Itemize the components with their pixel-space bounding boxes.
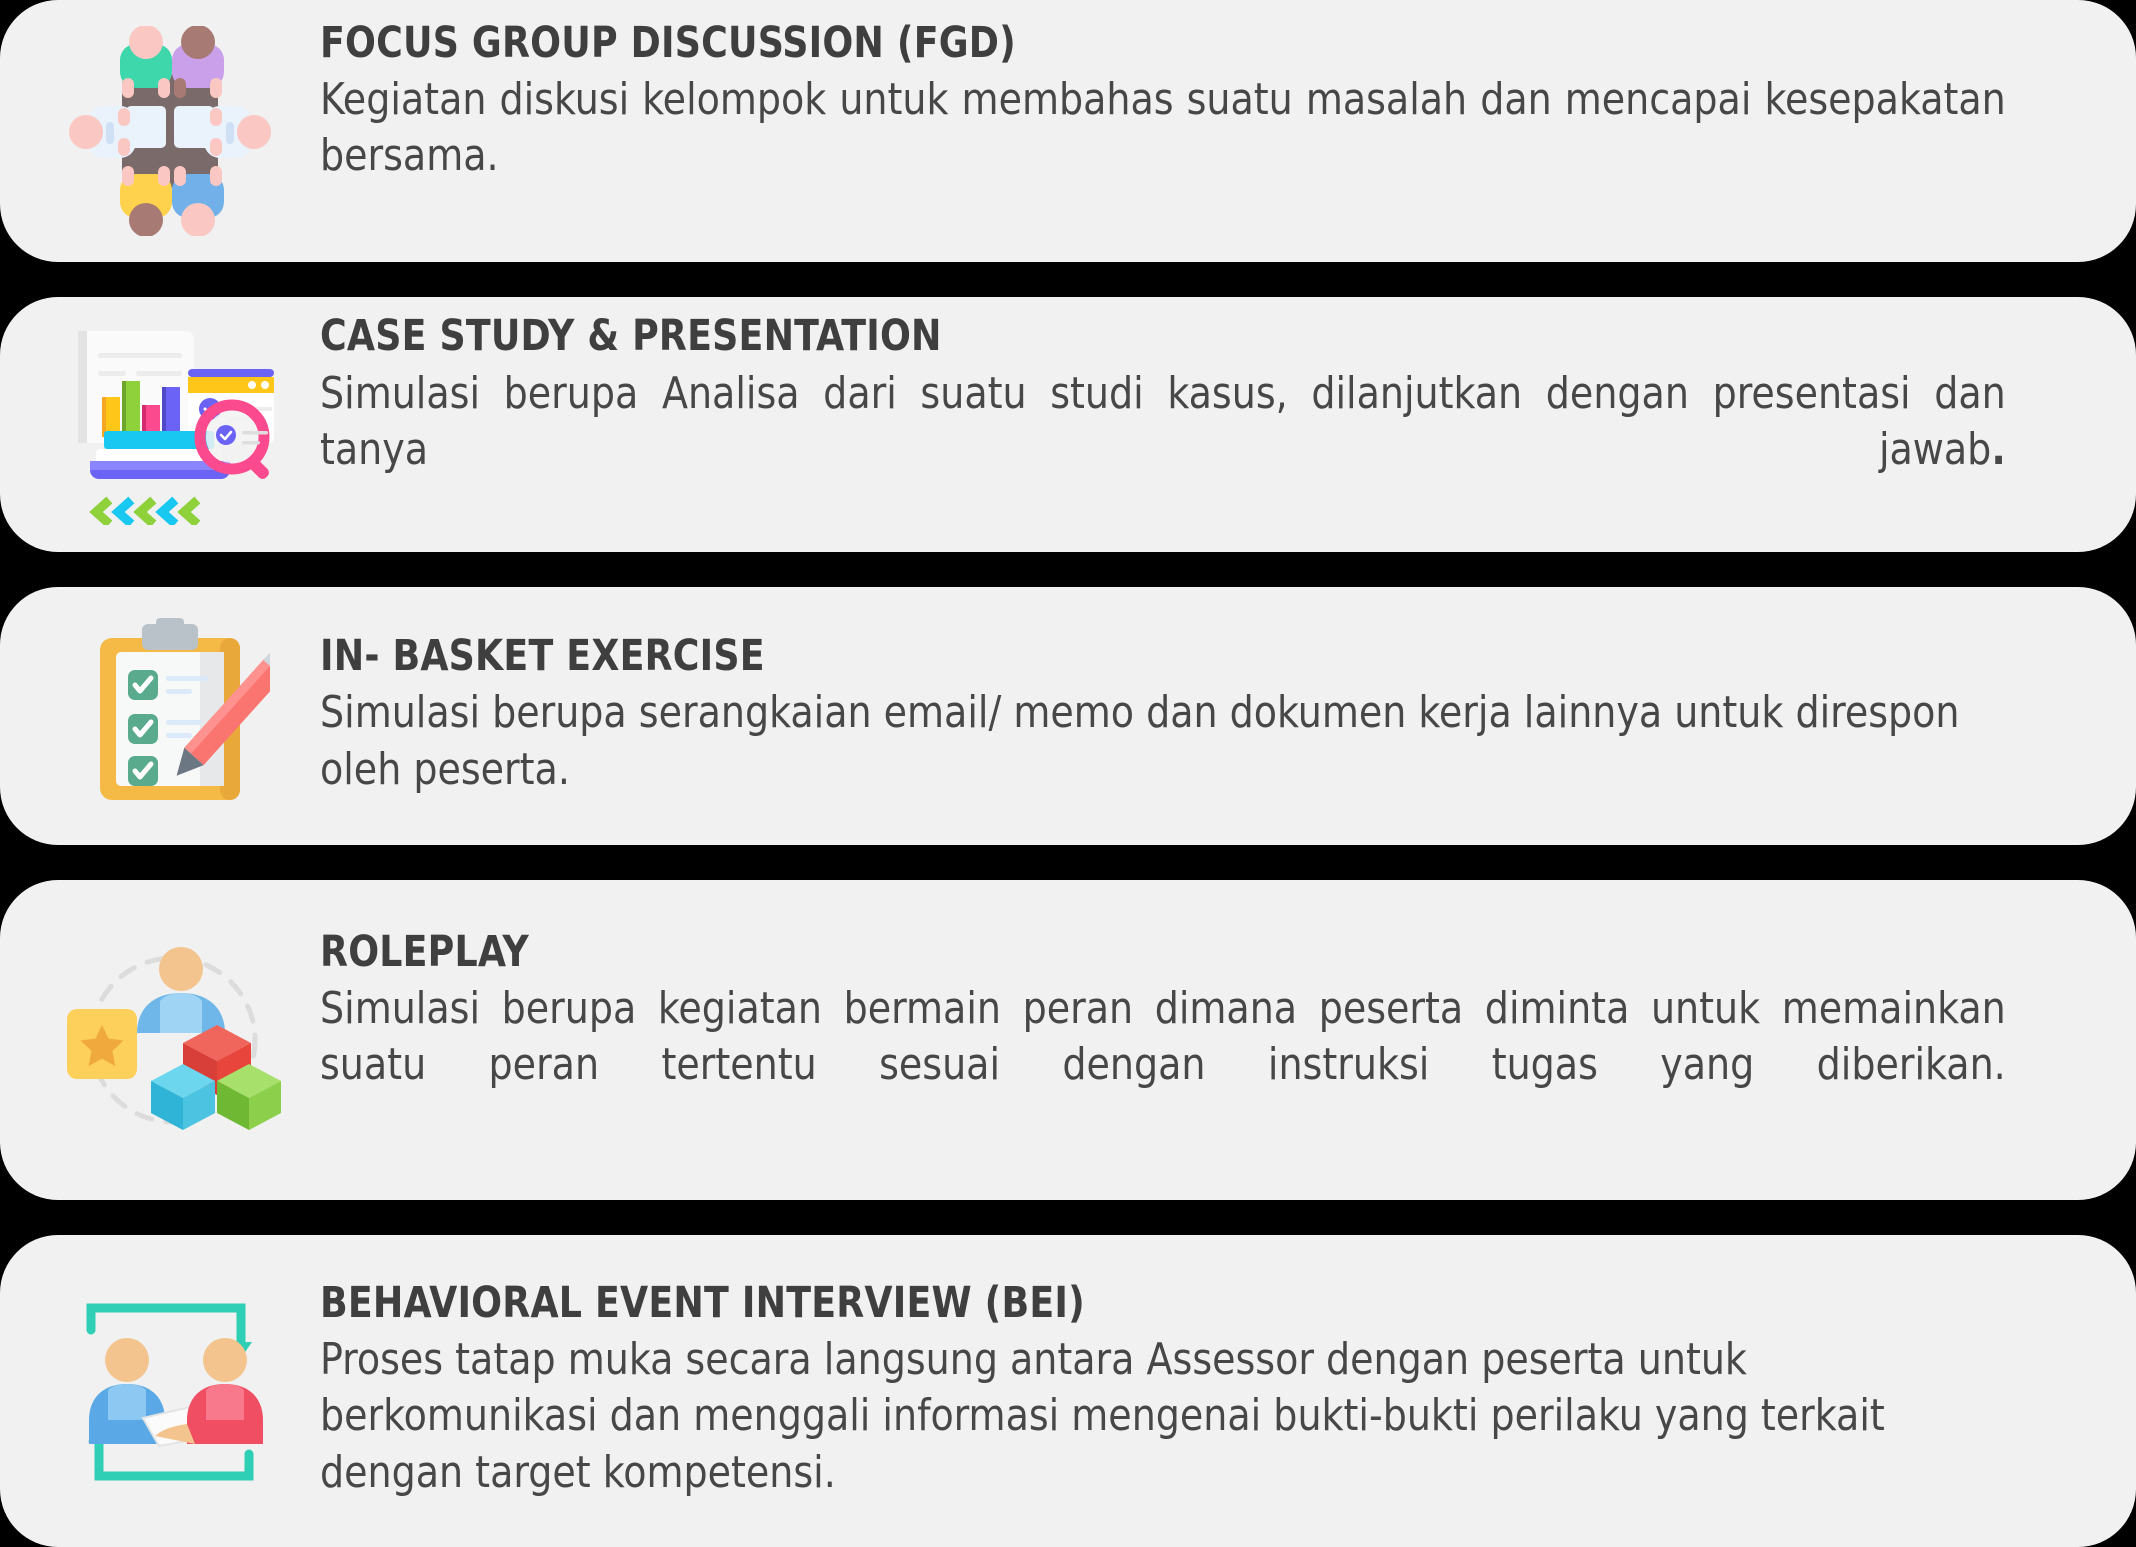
roleplay-icon: [20, 880, 320, 1200]
card-title: BEHAVIORAL EVENT INTERVIEW (BEI): [320, 1281, 1971, 1326]
card-behavioral-event-interview[interactable]: BEHAVIORAL EVENT INTERVIEW (BEI) Proses …: [0, 1235, 2136, 1547]
card-body-text: Simulasi berupa Analisa dari suatu studi…: [320, 368, 2006, 475]
card-text: BEHAVIORAL EVENT INTERVIEW (BEI) Proses …: [320, 1281, 2096, 1501]
card-body: Simulasi berupa Analisa dari suatu studi…: [320, 366, 2006, 535]
card-text: CASE STUDY & PRESENTATION Simulasi berup…: [320, 314, 2096, 534]
card-title: ROLEPLAY: [320, 930, 1971, 975]
card-focus-group-discussion[interactable]: FOCUS GROUP DISCUSSION (FGD) Kegiatan di…: [0, 0, 2136, 262]
card-in-basket-exercise[interactable]: IN- BASKET EXERCISE Simulasi berupa sera…: [0, 587, 2136, 845]
card-text: ROLEPLAY Simulasi berupa kegiatan bermai…: [320, 930, 2096, 1150]
card-roleplay[interactable]: ROLEPLAY Simulasi berupa kegiatan bermai…: [0, 880, 2136, 1200]
behavioral-event-interview-icon: [20, 1235, 320, 1547]
card-title: IN- BASKET EXERCISE: [320, 634, 1971, 679]
card-body: Simulasi berupa kegiatan bermain peran d…: [320, 981, 2006, 1150]
card-case-study-presentation[interactable]: CASE STUDY & PRESENTATION Simulasi berup…: [0, 297, 2136, 552]
card-body-period: .: [1991, 424, 2005, 475]
card-title: FOCUS GROUP DISCUSSION (FGD): [320, 21, 1971, 66]
card-text: FOCUS GROUP DISCUSSION (FGD) Kegiatan di…: [320, 21, 2096, 241]
card-body: Proses tatap muka secara langsung antara…: [320, 1332, 2006, 1501]
card-text: IN- BASKET EXERCISE Simulasi berupa sera…: [320, 634, 2096, 798]
focus-group-discussion-icon: [20, 0, 320, 262]
cards-board: FOCUS GROUP DISCUSSION (FGD) Kegiatan di…: [0, 0, 2136, 1547]
card-body: Kegiatan diskusi kelompok untuk membahas…: [320, 72, 2006, 241]
in-basket-exercise-icon: [20, 587, 320, 845]
card-body: Simulasi berupa serangkaian email/ memo …: [320, 685, 2006, 798]
case-study-presentation-icon: [20, 297, 320, 552]
card-title: CASE STUDY & PRESENTATION: [320, 314, 1971, 359]
